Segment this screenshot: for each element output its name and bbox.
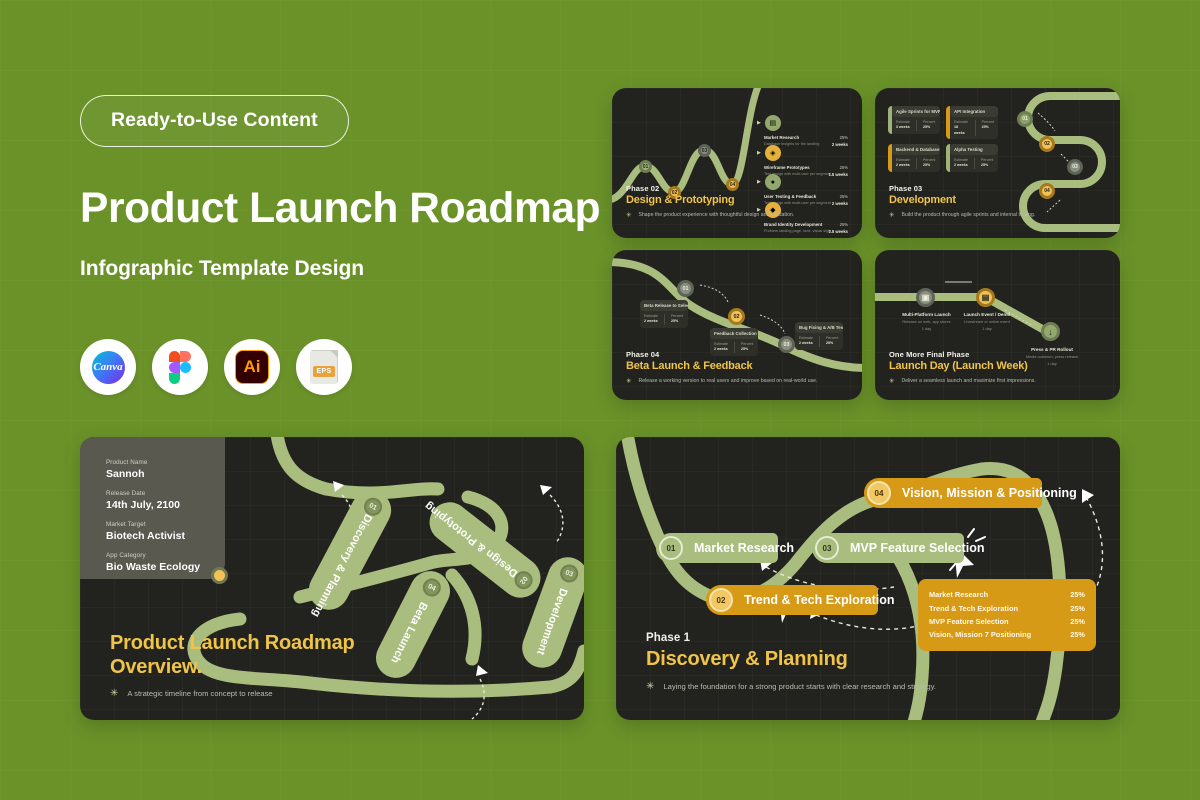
phase03-card-2[interactable]: API Integration Estimate18 weeks Percent… [946,106,998,139]
phase02-desc: Shape the product experience with though… [638,212,794,218]
phase02-row-2-estimate: 1.5 weeks [812,172,848,177]
phase03-node-02: 02 [1039,136,1055,152]
percent-value: 25% [981,163,993,168]
percent-value: 25% [923,125,935,130]
canva-logo-mark: Canva [92,351,125,384]
phase02-caption: Phase 02 Design & Prototyping ✳ Shape th… [626,184,794,219]
page-subtitle: Infographic Template Design [80,257,600,281]
phase02-row-1-estimate: 2 weeks [812,142,848,147]
illustrator-logo-mark: Ai [235,350,269,384]
phase04-card-1-title: Beta Release to Select Groups [640,300,688,311]
estimate-label: Estimate [714,342,728,346]
phase02-row-3-estimate: 2 weeks [812,201,848,206]
phase03-node-03: 03 [1067,159,1083,175]
percent-label: Percent [923,158,935,162]
phase02-row-4-estimate: 2.5 weeks [812,229,848,234]
overview-caption: Product Launch Roadmap Overview. ✳ A str… [110,632,355,699]
hero-section: Ready-to-Use Content Product Launch Road… [80,95,600,281]
phase1-title: Discovery & Planning [646,648,936,671]
pill-02-label: Trend & Tech Exploration [744,593,894,607]
estimate-label: Estimate [954,120,968,124]
pill-02-node: 02 [709,588,733,612]
table-row: Trend & Tech Exploration 25% [929,601,1085,614]
flower-icon: ✳ [646,681,654,692]
phase03-card-3[interactable]: Backend & Database Structuring Estimate2… [888,144,940,172]
product-info-panel: Product Name Sannoh Release Date 14th Ju… [80,437,225,579]
estimate-value: 2 weeks [896,163,910,168]
percent-value: 25% [923,163,935,168]
phase02-row-2[interactable]: ▶ ◈ [757,145,781,161]
phase02-row-1-percent: 25% [812,135,848,140]
phase1-card[interactable]: 01 Market Research 02 Trend & Tech Explo… [616,437,1120,720]
estimate-value: 18 weeks [954,125,969,136]
estimate-label: Estimate [896,158,910,162]
launch-stop-2-time: 1 day [951,326,1023,331]
legend-value: 25% [1070,604,1085,613]
phase04-title: Beta Launch & Feedback [626,360,818,372]
launch-event-icon: ▤ [976,288,995,307]
info-release-date-label: Release Date [106,490,225,497]
percent-value: 25% [826,341,838,346]
percent-label: Percent [923,120,935,124]
estimate-value: 2 weeks [799,341,813,346]
eps-file-icon[interactable]: EPS [296,339,352,395]
table-row: Market Research 25% [929,588,1085,601]
percent-label: Percent [981,158,993,162]
phase03-node-04: 04 [1039,183,1055,199]
phase03-card-3-title: Backend & Database Structuring [892,144,940,155]
phase02-title: Design & Prototyping [626,194,794,206]
eps-document-shape: EPS [310,350,338,384]
launch-stop-2-detail: Livestream or online event [951,319,1023,324]
overview-card[interactable]: 01 Discovery & Planning 02 Design & Prot… [80,437,584,720]
phase03-card-1[interactable]: Agile Sprints for MVP Features Estimate3… [888,106,940,134]
pill-04-vision-mission[interactable]: 04 Vision, Mission & Positioning [864,478,1042,508]
estimate-value: 2 weeks [954,163,968,168]
info-app-category-value: Bio Waste Ecology [106,561,225,573]
phase02-phase-label: Phase 02 [626,184,794,193]
ready-to-use-badge[interactable]: Ready-to-Use Content [80,95,349,147]
flower-icon: ✳ [110,688,118,699]
phase1-phase-label: Phase 1 [646,632,936,644]
info-product-name-value: Sannoh [106,468,225,480]
phase03-card-2-title: API Integration [950,106,998,117]
phase04-phase-label: Phase 04 [626,350,818,359]
info-market-target: Market Target Biotech Activist [106,521,225,542]
figma-logo-mark [169,351,191,384]
legend-name: Market Research [929,590,988,599]
phase03-phase-label: Phase 03 [889,184,1035,193]
figma-icon[interactable] [152,339,208,395]
pill-04-label: Vision, Mission & Positioning [902,486,1077,500]
phase03-desc: Build the product through agile sprints … [901,212,1035,218]
legend-value: 25% [1070,630,1085,639]
percent-value: 25% [982,125,994,130]
info-product-name-label: Product Name [106,459,225,466]
prototype-icon: ◈ [765,145,781,161]
estimate-label: Estimate [644,314,658,318]
phase04-card-1[interactable]: Beta Release to Select Groups Estimate2 … [640,300,688,328]
flower-icon: ✳ [626,211,631,219]
poster-stage: Ready-to-Use Content Product Launch Road… [0,0,1200,800]
pill-02-trend-tech[interactable]: 02 Trend & Tech Exploration [706,585,878,615]
phase04-node-01: 01 [677,280,694,297]
pill-03-node: 03 [815,536,839,560]
phase02-row-2-percent: 25% [812,165,848,170]
flower-icon: ✳ [889,377,894,385]
illustrator-icon[interactable]: Ai [224,339,280,395]
multi-platform-launch-icon: ▣ [916,288,935,307]
press-pr-icon: ↓ [1041,322,1060,341]
overview-title-line1: Product Launch Roadmap [110,632,355,656]
phase03-node-01: 01 [1017,111,1033,127]
eps-label: EPS [313,366,336,377]
launch-day-caption: One More Final Phase Launch Day (Launch … [889,350,1036,385]
estimate-label: Estimate [896,120,910,124]
legend-name: Trend & Tech Exploration [929,604,1018,613]
caret-right-icon: ▶ [757,150,761,156]
info-app-category: App Category Bio Waste Ecology [106,552,225,573]
pill-01-market-research[interactable]: 01 Market Research [656,533,778,563]
thumbnail-phase-02[interactable]: 01 02 03 04 ▶ ▤ Market Research Database… [612,88,862,238]
phase04-desc: Release a working version to real users … [638,378,817,384]
app-format-icons: Canva Ai EPS [80,339,352,395]
info-release-date-value: 14th July, 2100 [106,499,225,511]
phase03-card-4[interactable]: Alpha Testing Estimate2 weeks Percent25% [946,144,998,172]
phase04-card-3-title: Bug Fixing & A/B Testing [795,322,843,333]
launch-stop-2: Launch Event / Demo Livestream or online… [951,312,1023,331]
overview-desc: A strategic timeline from concept to rel… [127,689,272,698]
table-row: MVP Feature Selection 25% [929,615,1085,628]
overview-title-line2: Overview. [110,656,355,680]
phase1-breakdown-table[interactable]: Market Research 25% Trend & Tech Explora… [918,579,1096,651]
launch-day-phase-label: One More Final Phase [889,350,1036,359]
info-panel-accent-dot [211,567,228,584]
phase02-node-01: 01 [639,160,652,173]
pill-04-node: 04 [867,481,891,505]
percent-label: Percent [741,342,753,346]
legend-name: MVP Feature Selection [929,617,1009,626]
thumbnail-launch-day[interactable]: ▣ ▤ ↓ Multi-Platform Launch Release on w… [875,250,1120,400]
percent-value: 25% [671,319,683,324]
legend-value: 25% [1070,590,1085,599]
phase03-title: Development [889,194,1035,206]
percent-label: Percent [982,120,994,124]
launch-day-title: Launch Day (Launch Week) [889,360,1036,372]
phase04-node-02: 02 [728,308,745,325]
info-market-target-value: Biotech Activist [106,530,225,542]
estimate-label: Estimate [954,158,968,162]
canva-icon[interactable]: Canva [80,339,136,395]
launch-day-desc: Deliver a seamless launch and maximize f… [901,378,1035,384]
estimate-value: 2 weeks [644,319,658,324]
phase03-card-4-title: Alpha Testing [950,144,998,155]
caret-right-icon: ▶ [757,120,761,126]
phase04-card-2-title: Feedback Collection Loop [710,328,758,339]
phase02-row-1[interactable]: ▶ ▤ [757,115,781,131]
thumbnail-phase-03[interactable]: 01 02 03 04 Agile Sprints for MVP Featur… [875,88,1120,238]
info-release-date: Release Date 14th July, 2100 [106,490,225,511]
phase04-caption: Phase 04 Beta Launch & Feedback ✳ Releas… [626,350,818,385]
phase02-node-03: 03 [698,144,711,157]
table-row: Vision, Mission 7 Positioning 25% [929,628,1085,641]
phase03-card-1-title: Agile Sprints for MVP Features [892,106,940,117]
pill-03-mvp-features[interactable]: 03 MVP Feature Selection [812,533,964,563]
info-market-target-label: Market Target [106,521,225,528]
pill-01-label: Market Research [694,541,794,555]
pill-03-label: MVP Feature Selection [850,541,985,555]
pill-01-node: 01 [659,536,683,560]
phase04-card-3[interactable]: Bug Fixing & A/B Testing Estimate2 weeks… [795,322,843,350]
phase1-caption: Phase 1 Discovery & Planning ✳ Laying th… [646,632,936,692]
legend-value: 25% [1070,617,1085,626]
info-product-name: Product Name Sannoh [106,459,225,480]
flower-icon: ✳ [626,377,631,385]
legend-name: Vision, Mission 7 Positioning [929,630,1031,639]
estimate-value: 3 weeks [896,125,910,130]
estimate-label: Estimate [799,336,813,340]
launch-stop-2-title: Launch Event / Demo [951,312,1023,317]
research-icon: ▤ [765,115,781,131]
phase1-desc: Laying the foundation for a strong produ… [663,682,936,691]
thumbnail-phase-04[interactable]: 01 02 03 Beta Release to Select Groups E… [612,250,862,400]
phase02-row-4-percent: 25% [812,222,848,227]
phase03-caption: Phase 03 Development ✳ Build the product… [889,184,1035,219]
phase02-row-3-percent: 25% [812,194,848,199]
info-app-category-label: App Category [106,552,225,559]
flower-icon: ✳ [889,211,894,219]
percent-label: Percent [671,314,683,318]
percent-label: Percent [826,336,838,340]
page-title: Product Launch Roadmap [80,187,600,232]
